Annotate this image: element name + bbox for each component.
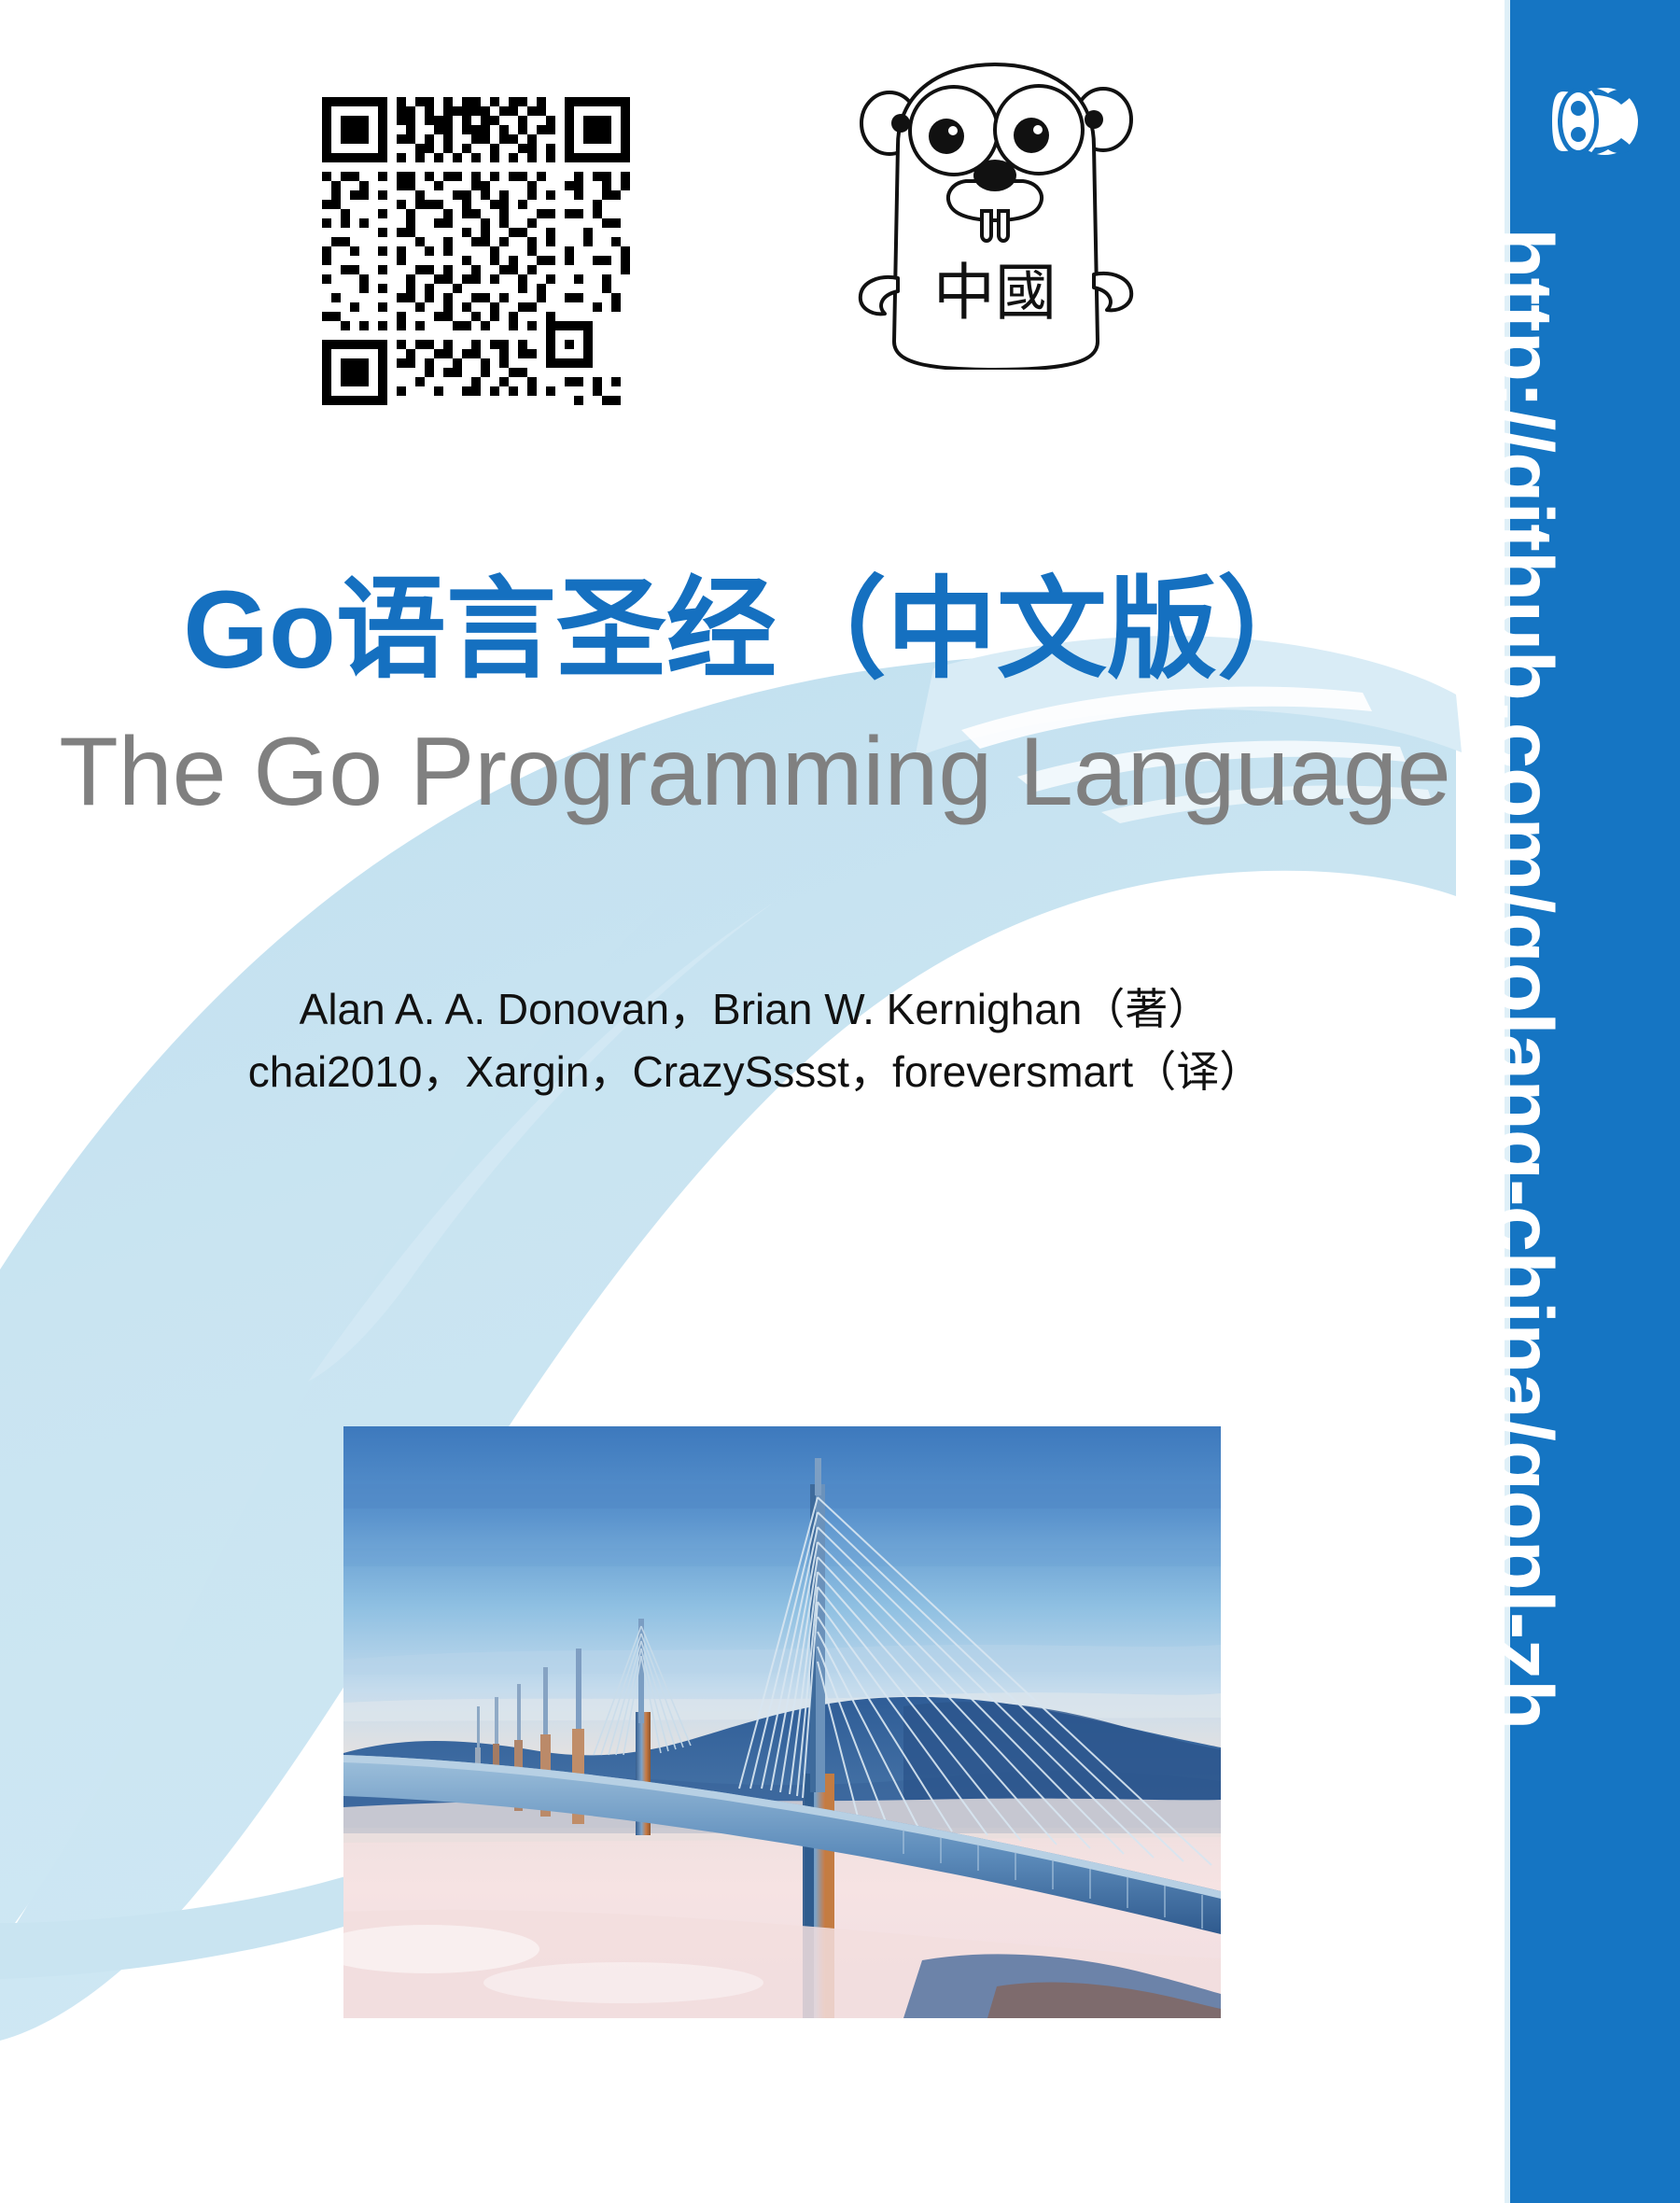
authors-block: Alan A. A. Donovan，Brian W. Kernighan（著）… [0,978,1510,1102]
github-octocat-icon [1541,67,1649,175]
spine-url-text: http://github.com/golang-china/gopl-zh [1510,228,1680,2001]
spine-bar: http://github.com/golang-china/gopl-zh [1510,0,1680,2203]
book-title-chinese: Go语言圣经（中文版） [0,568,1510,695]
authors-line-original: Alan A. A. Donovan，Brian W. Kernighan（著） [0,978,1510,1041]
spine-url-label: http://github.com/golang-china/gopl-zh [1482,228,1565,1729]
book-cover: 中國 Go语言圣经（中文版） The Go Programming Langua… [0,0,1680,2203]
go-gopher-mascot-icon: 中國 [840,34,1148,370]
millau-viaduct-bridge-photo [343,1426,1221,2018]
qr-code-icon [322,97,630,405]
gopher-body-text: 中國 [933,257,1057,329]
authors-line-translators: chai2010，Xargin，CrazySssst，foreversmart（… [0,1041,1510,1103]
book-title-english: The Go Programming Language [0,719,1510,825]
